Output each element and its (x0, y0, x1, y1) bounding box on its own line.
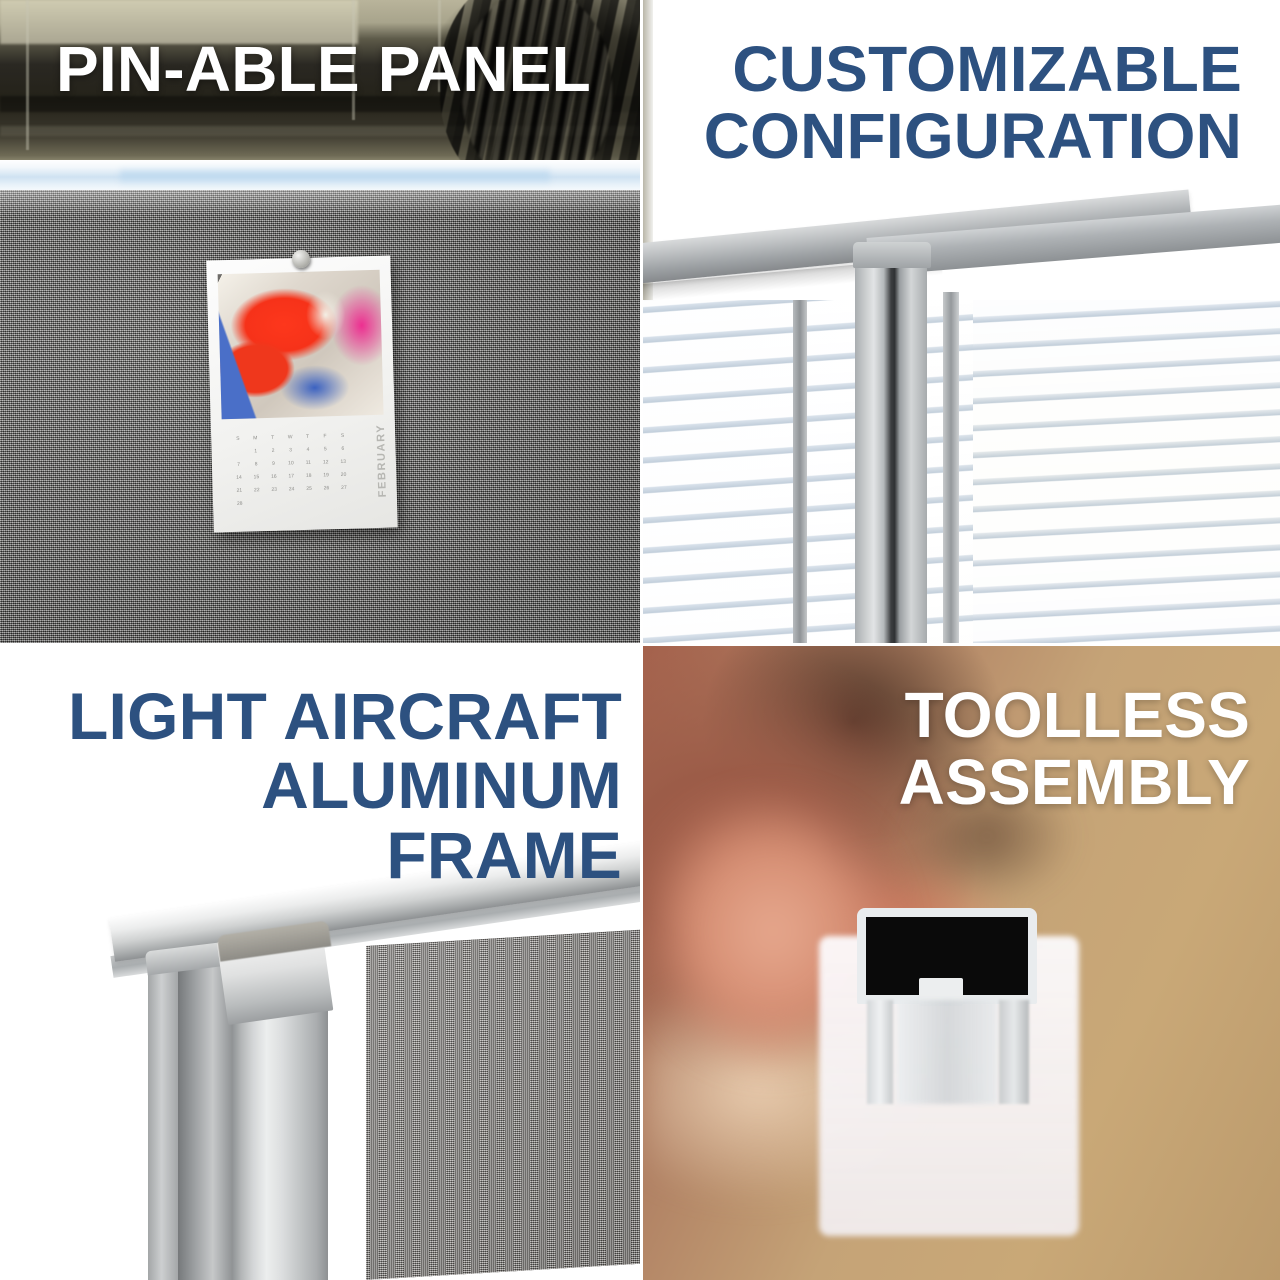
ceiling-pipe (26, 0, 29, 150)
calendar-weekday-header: M (247, 435, 265, 448)
calendar-day-cell: 27 (335, 485, 353, 498)
calendar-day-cell: 18 (300, 473, 318, 486)
calendar-day-cell (335, 498, 353, 511)
window-blinds-far (973, 300, 1280, 643)
caption-toolless-assembly: TOOLLESS ASSEMBLY (690, 682, 1250, 816)
calendar-day-cell: 24 (283, 486, 301, 499)
calendar-day-cell: 11 (300, 460, 318, 473)
calendar-day-cell: 15 (248, 474, 266, 487)
calendar-day-cell: 23 (265, 487, 283, 500)
panel-toolless-assembly: TOOLLESS ASSEMBLY (643, 646, 1280, 1280)
frame-mullion-left (793, 300, 807, 643)
panel-pin-able-panel: SMTWTFS123456789101112131415161718192021… (0, 0, 640, 643)
calendar-day-cell (266, 500, 284, 513)
calendar-day-cell (283, 499, 301, 512)
caption-customizable-configuration: CUSTOMIZABLE CONFIGURATION (682, 36, 1242, 170)
caption-light-aircraft-aluminum-frame: LIGHT AIRCRAFT ALUMINUM FRAME (10, 682, 622, 890)
caption-pin-able-panel: PIN-ABLE PANEL (56, 36, 636, 103)
extrusion-web (897, 1000, 997, 1104)
calendar-weekday-header: T (299, 434, 317, 447)
calendar-day-cell: 2 (264, 448, 282, 461)
calendar-day-cell: 28 (231, 501, 249, 514)
calendar-day-cell: 5 (317, 446, 335, 459)
calendar-day-cell (248, 500, 266, 513)
calendar-day-cell: 21 (231, 488, 249, 501)
frame-post-front (232, 998, 328, 1280)
frame-post-rear (148, 964, 182, 1280)
extrusion-leg-right (999, 1000, 1029, 1104)
calendar-weekday-header: S (334, 433, 352, 446)
calendar-day-cell: 16 (265, 474, 283, 487)
calendar-day-cell: 25 (300, 486, 318, 499)
push-pin-icon (292, 250, 310, 268)
calendar-weekday-header: T (264, 435, 282, 448)
calendar-day-cell: 8 (247, 461, 265, 474)
calendar-day-cell: 1 (247, 448, 265, 461)
calendar-artwork (218, 270, 384, 419)
calendar-day-cell: 26 (318, 485, 336, 498)
panel-light-aircraft-aluminum-frame: LIGHT AIRCRAFT ALUMINUM FRAME (0, 646, 640, 1280)
calendar-day-cell: 4 (299, 447, 317, 460)
aluminum-extrusion (857, 908, 1037, 1026)
calendar-day-cell: 19 (317, 472, 335, 485)
calendar-day-cell: 7 (230, 462, 248, 475)
light-glow-core (120, 167, 550, 187)
fabric-panel-insert (366, 930, 640, 1280)
pinned-calendar: SMTWTFS123456789101112131415161718192021… (206, 255, 398, 532)
calendar-day-cell (318, 498, 336, 511)
calendar-day-cell: 10 (282, 460, 300, 473)
calendar-day-cell: 20 (335, 472, 353, 485)
calendar-day-cell: 17 (282, 473, 300, 486)
calendar-day-cell: 6 (334, 446, 352, 459)
frame-post-cap (853, 242, 931, 268)
calendar-day-cell (301, 499, 319, 512)
fabric-top-highlight (0, 190, 640, 216)
frame-corner-post (855, 260, 927, 643)
calendar-day-cell: 3 (282, 447, 300, 460)
calendar-day-cell (230, 449, 248, 462)
calendar-weekday-header: S (229, 436, 247, 449)
calendar-day-cell: 22 (248, 487, 266, 500)
panel-customizable-configuration: CUSTOMIZABLE CONFIGURATION (643, 0, 1280, 643)
calendar-weekday-header: W (281, 434, 299, 447)
calendar-day-cell: 14 (230, 475, 248, 488)
calendar-day-cell: 9 (265, 461, 283, 474)
frame-mullion-right (943, 292, 959, 643)
calendar-weekday-header: F (316, 433, 334, 446)
calendar-day-cell: 12 (317, 459, 335, 472)
feature-collage: SMTWTFS123456789101112131415161718192021… (0, 0, 1280, 1280)
calendar-day-cell: 13 (334, 459, 352, 472)
calendar-month-label: FEBRUARY (375, 424, 389, 498)
extrusion-leg-left (867, 1000, 893, 1104)
calendar-day-grid: SMTWTFS123456789101112131415161718192021… (229, 433, 353, 514)
